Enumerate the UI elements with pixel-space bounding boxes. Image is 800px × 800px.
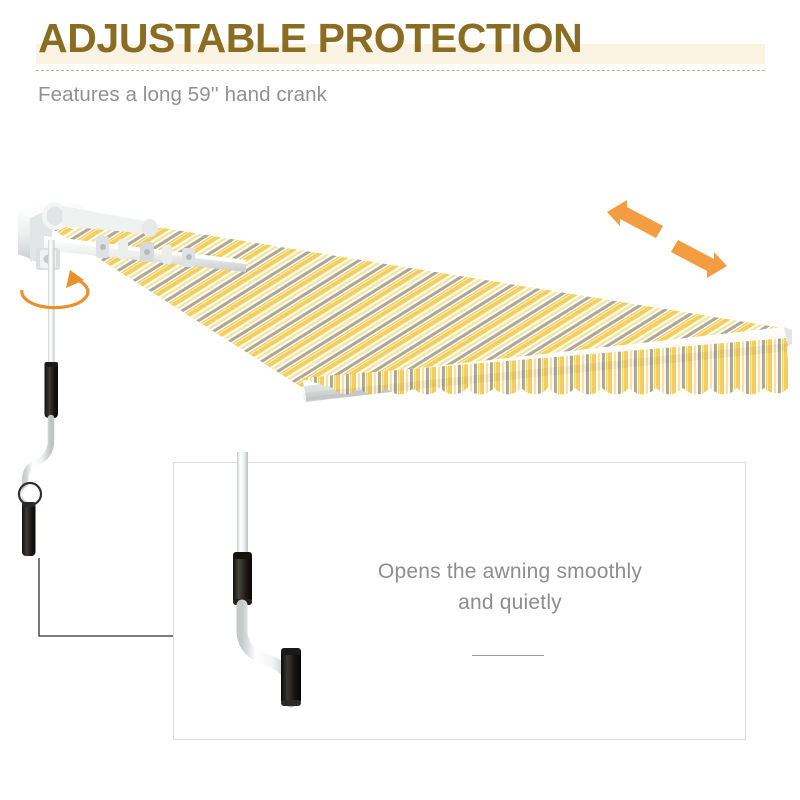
page-title: ADJUSTABLE PROTECTION [38, 14, 768, 62]
callout-caption-line-1: Opens the awning smoothly [330, 556, 690, 587]
header-divider [36, 70, 765, 71]
crank-upper-grip [45, 362, 59, 418]
page-subtitle: Features a long 59'' hand crank [38, 82, 327, 108]
header: ADJUSTABLE PROTECTION Features a long 59… [0, 0, 800, 130]
callout-caption: Opens the awning smoothly and quietly [330, 556, 690, 618]
infographic-canvas: ADJUSTABLE PROTECTION Features a long 59… [0, 0, 800, 800]
callout-underline [472, 655, 544, 656]
crank-rotation-arrowhead [66, 270, 84, 288]
crank-enlarged-lower-grip [281, 648, 301, 706]
extend-arrow [607, 200, 663, 238]
crank-enlarged-upper-grip [233, 552, 252, 605]
callout-caption-line-2: and quietly [330, 587, 690, 618]
retract-arrow [671, 240, 727, 278]
